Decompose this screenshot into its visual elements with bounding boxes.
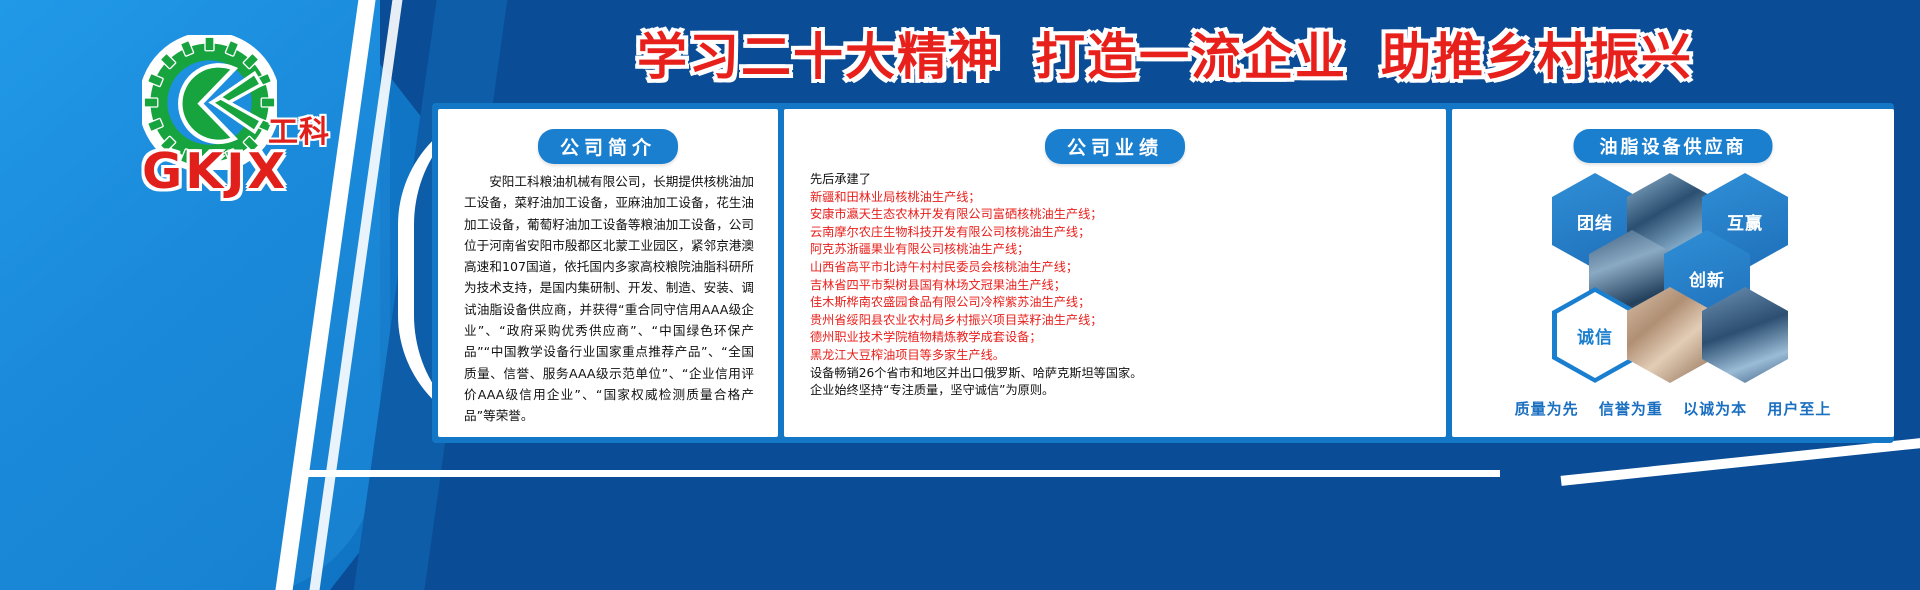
slogan-item-1: 质量为先 <box>1515 400 1579 418</box>
company-logo: 工科 GKJX <box>120 35 350 215</box>
performance-list-item: 佳木斯桦南农盛园食品有限公司冷榨紫苏油生产线； <box>810 294 1430 312</box>
slogan-item-4: 用户至上 <box>1767 400 1831 418</box>
title-part-3: 助推乡村振兴 <box>1381 17 1693 89</box>
title-part-2: 打造一流企业 <box>1035 17 1347 89</box>
page-title: 学习二十大精神 打造一流企业 助推乡村振兴 <box>430 18 1900 88</box>
panel-company-performance: 公司业绩 先后承建了 新疆和田林业局核桃油生产线；安康市瀛天生态农林开发有限公司… <box>784 109 1446 437</box>
performance-list-item: 山西省高平市北诗午村村民委员会核桃油生产线； <box>810 259 1430 277</box>
supplier-slogan: 质量为先 信誉为重 以诚为本 用户至上 <box>1452 398 1894 419</box>
slogan-item-3: 以诚为本 <box>1683 400 1747 418</box>
panel-heading-performance: 公司业绩 <box>1045 129 1185 164</box>
performance-tail-1: 设备畅销26个省市和地区并出口俄罗斯、哈萨克斯坦等国家。 <box>810 365 1430 383</box>
panel-heading-supplier: 油脂设备供应商 <box>1574 129 1773 163</box>
company-intro-text: 安阳工科粮油机械有限公司，长期提供核桃油加工设备，菜籽油加工设备，亚麻油加工设备… <box>464 171 754 427</box>
performance-list-item: 贵州省绥阳县农业农村局乡村振兴项目菜籽油生产线； <box>810 312 1430 330</box>
performance-lead: 先后承建了 <box>810 171 1430 189</box>
poster-canvas: 工科 GKJX 学习二十大精神 打造一流企业 助推乡村振兴 公司简介 安阳工科粮… <box>0 0 1920 590</box>
hex-label-tuanjie: 团结 <box>1577 209 1613 234</box>
title-part-1: 学习二十大精神 <box>637 17 1001 89</box>
performance-list-item: 阿克苏浙疆果业有限公司核桃油生产线； <box>810 241 1430 259</box>
hexagon-cluster: 团结 互赢 创新 诚信 <box>1452 165 1894 373</box>
hex-label-chengxin: 诚信 <box>1577 323 1613 348</box>
performance-list-item: 德州职业技术学院植物精炼教学成套设备； <box>810 329 1430 347</box>
panel-company-intro: 公司简介 安阳工科粮油机械有限公司，长期提供核桃油加工设备，菜籽油加工设备，亚麻… <box>438 109 778 437</box>
content-board: 公司简介 安阳工科粮油机械有限公司，长期提供核桃油加工设备，菜籽油加工设备，亚麻… <box>432 103 1894 443</box>
performance-list: 新疆和田林业局核桃油生产线；安康市瀛天生态农林开发有限公司富硒核桃油生产线；云南… <box>810 189 1430 365</box>
performance-list-item: 吉林省四平市梨树县国有林场文冠果油生产线； <box>810 277 1430 295</box>
performance-list-item: 新疆和田林业局核桃油生产线； <box>810 189 1430 207</box>
performance-list-item: 安康市瀛天生态农林开发有限公司富硒核桃油生产线； <box>810 206 1430 224</box>
panel-supplier: 油脂设备供应商 团结 互赢 创新 诚信 质量为先 信誉为重 以诚为本 用户至上 <box>1452 109 1894 437</box>
hex-label-huying: 互赢 <box>1727 209 1763 234</box>
hex-label-chuangxin: 创新 <box>1689 266 1725 291</box>
logo-latin-text: GKJX <box>142 143 288 200</box>
slogan-item-2: 信誉为重 <box>1599 400 1663 418</box>
performance-text: 先后承建了 新疆和田林业局核桃油生产线；安康市瀛天生态农林开发有限公司富硒核桃油… <box>810 171 1430 400</box>
panel-heading-intro: 公司简介 <box>538 129 678 164</box>
performance-tail-2: 企业始终坚持“专注质量，坚守诚信”为原则。 <box>810 382 1430 400</box>
performance-list-item: 云南摩尔农庄生物科技开发有限公司核桃油生产线； <box>810 224 1430 242</box>
performance-list-item: 黑龙江大豆榨油项目等多家生产线。 <box>810 347 1430 365</box>
deco-stroke-2 <box>300 470 1500 477</box>
